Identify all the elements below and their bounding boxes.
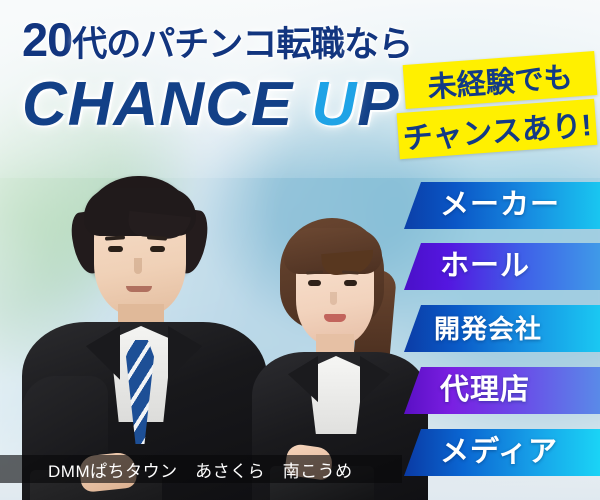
category-label-developer: 開発会社 (434, 316, 542, 342)
category-label-maker: メーカー (440, 191, 560, 220)
credits-bar: DMMぱちタウン あさくら 南こうめ (0, 455, 402, 483)
category-button-agency[interactable]: 代理店 (404, 367, 600, 414)
category-list: メーカー ホール 開発会社 代理店 メディア (0, 0, 600, 500)
credits-text: DMMぱちタウン あさくら 南こうめ (48, 457, 353, 482)
category-label-agency: 代理店 (440, 376, 530, 405)
category-button-media[interactable]: メディア (404, 429, 600, 476)
category-label-hall: ホール (440, 252, 530, 281)
category-button-developer[interactable]: 開発会社 (404, 305, 600, 352)
category-label-media: メディア (440, 438, 558, 467)
ad-banner[interactable]: 20代のパチンコ転職なら CHANCE UP 未経験でも チャンスあり! メーカ… (0, 0, 600, 500)
category-button-hall[interactable]: ホール (404, 243, 600, 290)
category-button-maker[interactable]: メーカー (404, 182, 600, 229)
